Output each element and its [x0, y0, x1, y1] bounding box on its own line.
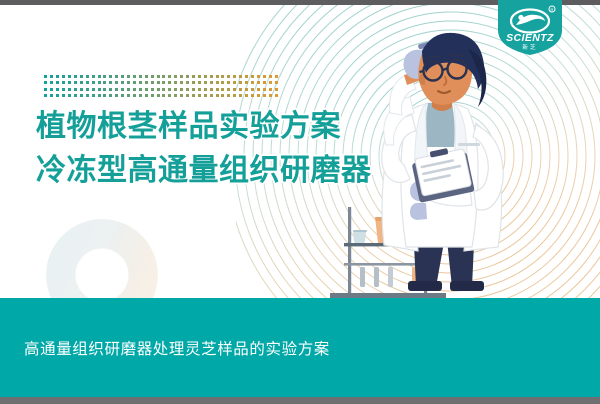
- gradient-dot: [221, 75, 224, 78]
- gradient-dot: [109, 88, 112, 91]
- gradient-dot: [198, 94, 201, 97]
- gradient-dot: [157, 88, 160, 91]
- gradient-dot: [86, 81, 89, 84]
- gradient-dot: [157, 81, 160, 84]
- gradient-dot: [80, 75, 83, 78]
- gradient-dot: [127, 88, 130, 91]
- gradient-dot: [98, 81, 101, 84]
- gradient-dot: [174, 94, 177, 97]
- gradient-dot: [80, 88, 83, 91]
- headline-line-1: 植物根茎样品实验方案: [36, 109, 372, 144]
- gradient-dot: [216, 94, 219, 97]
- gradient-dot: [239, 94, 242, 97]
- gradient-dot: [251, 75, 254, 78]
- gradient-dot: [257, 94, 260, 97]
- gradient-dot: [251, 94, 254, 97]
- logo-sub-wordmark: 新芝: [522, 43, 537, 51]
- gradient-dot: [192, 94, 195, 97]
- gradient-dot: [269, 81, 272, 84]
- gradient-dot: [192, 88, 195, 91]
- gradient-dot: [210, 88, 213, 91]
- gradient-dot: [168, 75, 171, 78]
- dot-gradient-block: [43, 73, 279, 99]
- gradient-dot: [121, 75, 124, 78]
- gradient-dot: [192, 75, 195, 78]
- gradient-dot: [127, 81, 130, 84]
- gradient-dot: [192, 81, 195, 84]
- gradient-dot: [62, 81, 65, 84]
- gradient-dot: [98, 94, 101, 97]
- gradient-dot: [275, 75, 278, 78]
- gradient-dot: [221, 88, 224, 91]
- gradient-dot: [74, 94, 77, 97]
- gradient-dot: [180, 75, 183, 78]
- gradient-dot: [44, 88, 47, 91]
- gradient-dot: [133, 88, 136, 91]
- gradient-dot: [68, 75, 71, 78]
- gradient-dot: [157, 94, 160, 97]
- gradient-dot: [239, 75, 242, 78]
- gradient-dot: [151, 88, 154, 91]
- gradient-dot: [275, 81, 278, 84]
- gradient-dot: [157, 75, 160, 78]
- gradient-dot: [216, 88, 219, 91]
- gradient-dot: [115, 94, 118, 97]
- gradient-dot: [80, 94, 83, 97]
- gradient-dot: [98, 88, 101, 91]
- page-title: 植物根茎样品实验方案 冷冻型高通量组织研磨器: [36, 109, 372, 189]
- gradient-dot: [162, 88, 165, 91]
- gradient-dot: [109, 81, 112, 84]
- gradient-dot: [174, 88, 177, 91]
- gradient-dot: [233, 88, 236, 91]
- gradient-dot: [50, 88, 53, 91]
- gradient-dot: [275, 94, 278, 97]
- gradient-dot: [86, 88, 89, 91]
- gradient-dot: [50, 94, 53, 97]
- gradient-dot: [204, 75, 207, 78]
- gradient-dot: [245, 88, 248, 91]
- gradient-dot: [121, 88, 124, 91]
- gradient-dot: [92, 81, 95, 84]
- gradient-dot: [139, 94, 142, 97]
- bottom-chrome-bar: [0, 397, 600, 404]
- svg-text:R: R: [551, 7, 554, 12]
- gradient-dot: [145, 81, 148, 84]
- gradient-dot: [168, 88, 171, 91]
- gradient-dot: [251, 88, 254, 91]
- gradient-dot: [68, 94, 71, 97]
- gradient-dot: [162, 94, 165, 97]
- gradient-dot: [56, 75, 59, 78]
- gradient-dot: [103, 75, 106, 78]
- gradient-dot: [257, 75, 260, 78]
- gradient-dot: [139, 75, 142, 78]
- gradient-dot: [186, 88, 189, 91]
- gradient-dot: [239, 81, 242, 84]
- gradient-dot: [221, 94, 224, 97]
- gradient-dot: [62, 75, 65, 78]
- gradient-dot: [239, 88, 242, 91]
- gradient-dot: [103, 81, 106, 84]
- gradient-dot: [204, 88, 207, 91]
- gradient-dot: [92, 94, 95, 97]
- gradient-dot: [245, 81, 248, 84]
- gradient-dot: [109, 94, 112, 97]
- gradient-dot: [74, 88, 77, 91]
- gradient-dot: [50, 75, 53, 78]
- gradient-dot: [198, 88, 201, 91]
- gradient-dot: [216, 75, 219, 78]
- gradient-dot: [233, 75, 236, 78]
- gradient-dot: [210, 75, 213, 78]
- gradient-dot: [151, 75, 154, 78]
- gradient-dot: [68, 81, 71, 84]
- gradient-dot: [251, 81, 254, 84]
- gradient-dot: [56, 88, 59, 91]
- gradient-dot: [80, 81, 83, 84]
- gradient-dot: [151, 81, 154, 84]
- gradient-dot: [62, 88, 65, 91]
- gradient-dot: [133, 75, 136, 78]
- gradient-dot: [44, 94, 47, 97]
- gradient-dot: [103, 88, 106, 91]
- gradient-dot: [56, 94, 59, 97]
- gradient-dot: [210, 94, 213, 97]
- poster-canvas: 植物根茎样品实验方案 冷冻型高通量组织研磨器: [0, 0, 600, 404]
- gradient-dot: [74, 81, 77, 84]
- scientz-shield-logo[interactable]: R SCIENTZ 新芝: [498, 0, 562, 55]
- gradient-dot: [198, 81, 201, 84]
- gradient-dot: [145, 88, 148, 91]
- gradient-dot: [174, 75, 177, 78]
- gradient-dot: [227, 75, 230, 78]
- gradient-dot: [227, 81, 230, 84]
- gradient-dot: [227, 88, 230, 91]
- gradient-dot: [263, 75, 266, 78]
- gradient-dot: [103, 94, 106, 97]
- gradient-dot: [210, 81, 213, 84]
- gradient-dot: [92, 88, 95, 91]
- gradient-dot: [263, 88, 266, 91]
- gradient-dot: [174, 81, 177, 84]
- gradient-dot: [275, 88, 278, 91]
- gradient-dot: [127, 94, 130, 97]
- gradient-dot: [180, 94, 183, 97]
- gradient-dot: [68, 88, 71, 91]
- gradient-dot: [180, 88, 183, 91]
- gradient-dot: [86, 94, 89, 97]
- gradient-dot: [127, 75, 130, 78]
- gradient-dot: [62, 94, 65, 97]
- gradient-dot: [186, 75, 189, 78]
- gradient-dot: [133, 94, 136, 97]
- gradient-dot: [263, 94, 266, 97]
- gradient-dot: [204, 94, 207, 97]
- gradient-dot: [74, 75, 77, 78]
- gradient-dot: [245, 75, 248, 78]
- gradient-dot: [139, 88, 142, 91]
- gradient-dot: [44, 75, 47, 78]
- gradient-dot: [115, 81, 118, 84]
- gradient-dot: [227, 94, 230, 97]
- gradient-dot: [86, 75, 89, 78]
- gradient-dot: [50, 81, 53, 84]
- gradient-dot: [186, 94, 189, 97]
- gradient-dot: [139, 81, 142, 84]
- gradient-dot: [133, 81, 136, 84]
- gradient-dot: [269, 88, 272, 91]
- gradient-dot: [168, 94, 171, 97]
- gradient-dot: [269, 75, 272, 78]
- gradient-dot: [221, 81, 224, 84]
- headline-line-2: 冷冻型高通量组织研磨器: [36, 153, 372, 188]
- logo-wordmark: SCIENTZ: [506, 32, 554, 44]
- gradient-dot: [245, 94, 248, 97]
- gradient-dot: [233, 81, 236, 84]
- gradient-dot: [145, 94, 148, 97]
- gradient-dot: [115, 75, 118, 78]
- gradient-dot: [168, 81, 171, 84]
- gradient-dot: [98, 75, 101, 78]
- gradient-dot: [233, 94, 236, 97]
- gradient-dot: [257, 88, 260, 91]
- gradient-dot: [180, 81, 183, 84]
- gradient-dot: [216, 81, 219, 84]
- gradient-dot: [92, 75, 95, 78]
- gradient-dot: [56, 81, 59, 84]
- gradient-dot: [269, 94, 272, 97]
- gradient-dot: [162, 81, 165, 84]
- gradient-dot: [162, 75, 165, 78]
- gradient-dot: [257, 81, 260, 84]
- gradient-dot: [44, 81, 47, 84]
- gradient-dot: [263, 81, 266, 84]
- gradient-dot: [121, 94, 124, 97]
- gradient-dot: [204, 81, 207, 84]
- gradient-dot: [145, 75, 148, 78]
- gradient-dot: [186, 81, 189, 84]
- gradient-dot: [109, 75, 112, 78]
- gradient-dot: [151, 94, 154, 97]
- gradient-dot: [115, 88, 118, 91]
- bottom-banner: 高通量组织研磨器处理灵芝样品的实验方案: [0, 298, 600, 397]
- gradient-dot: [198, 75, 201, 78]
- gradient-dot: [121, 81, 124, 84]
- banner-caption: 高通量组织研磨器处理灵芝样品的实验方案: [24, 337, 330, 359]
